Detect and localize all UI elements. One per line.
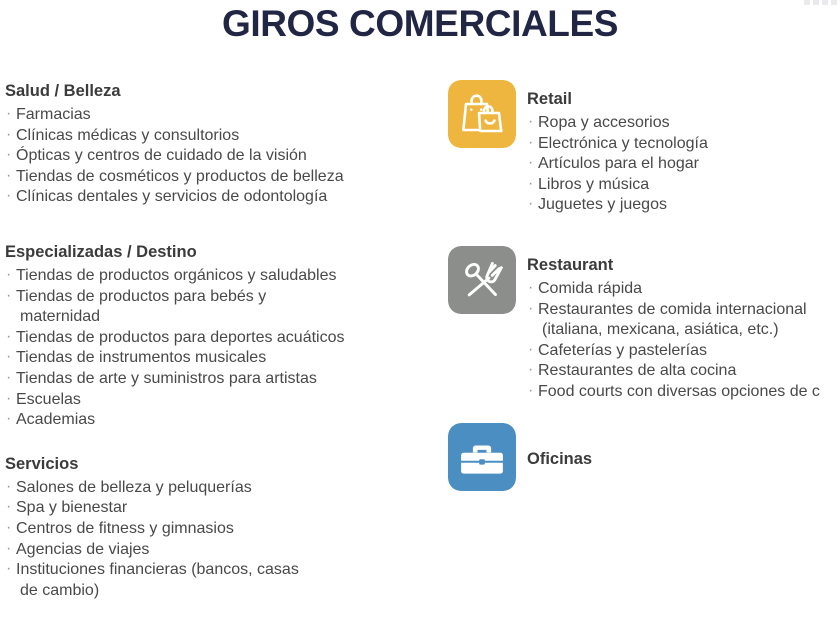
list-item: Electrónica y tecnología	[527, 134, 840, 155]
shopping-bags-icon	[448, 80, 516, 148]
section-heading-restaurant: Restaurant	[527, 254, 840, 277]
list-item: Comida rápida	[527, 279, 840, 300]
list-item: Libros y música	[527, 175, 840, 196]
section-heading-retail: Retail	[527, 88, 840, 111]
list-item-continuation: (italiana, mexicana, asiática, etc.)	[538, 320, 840, 341]
section-retail: Retail Ropa y accesorios Electrónica y t…	[448, 80, 840, 216]
section-heading-oficinas: Oficinas	[527, 448, 840, 471]
list-item-continuation: maternidad	[16, 307, 435, 328]
section-heading-salud-belleza: Salud / Belleza	[5, 80, 435, 103]
list-item: Restaurantes de alta cocina	[527, 361, 840, 382]
list-item: Tiendas de productos para bebés y matern…	[5, 287, 435, 328]
list-item: Clínicas dentales y servicios de odontol…	[5, 187, 435, 208]
row-body-restaurant: Restaurant Comida rápida Restaurantes de…	[527, 246, 840, 403]
list-item: Tiendas de productos orgánicos y saludab…	[5, 266, 435, 287]
list-item: Ópticas y centros de cuidado de la visió…	[5, 146, 435, 167]
list-item: Ropa y accesorios	[527, 113, 840, 134]
list-item: Food courts con diversas opciones de c	[527, 382, 840, 403]
list-item: Tiendas de arte y suministros para artis…	[5, 369, 435, 390]
page-title: GIROS COMERCIALES	[0, 2, 840, 46]
left-column: Salud / Belleza Farmacias Clínicas médic…	[5, 80, 435, 601]
list-item: Artículos para el hogar	[527, 154, 840, 175]
section-restaurant: Restaurant Comida rápida Restaurantes de…	[448, 246, 840, 403]
list-item: Academias	[5, 410, 435, 431]
section-servicios: Servicios Salones de belleza y peluquerí…	[5, 453, 435, 602]
list-restaurant: Comida rápida Restaurantes de comida int…	[527, 279, 840, 403]
section-spacer	[448, 216, 840, 246]
section-oficinas: Oficinas	[448, 423, 840, 491]
list-item: Cafeterías y pastelerías	[527, 341, 840, 362]
section-salud-belleza: Salud / Belleza Farmacias Clínicas médic…	[5, 80, 435, 208]
right-column: Retail Ropa y accesorios Electrónica y t…	[448, 80, 840, 491]
slide-canvas: GIROS COMERCIALES Salud / Belleza Farmac…	[0, 0, 840, 630]
list-item: Salones de belleza y peluquerías	[5, 478, 435, 499]
list-item: Spa y bienestar	[5, 498, 435, 519]
list-retail: Ropa y accesorios Electrónica y tecnolog…	[527, 113, 840, 216]
section-heading-servicios: Servicios	[5, 453, 435, 476]
list-item: Instituciones financieras (bancos, casas…	[5, 560, 435, 601]
section-spacer	[5, 431, 435, 453]
list-item-text: Restaurantes de comida internacional	[538, 301, 807, 318]
section-spacer	[5, 208, 435, 241]
list-salud-belleza: Farmacias Clínicas médicas y consultorio…	[5, 105, 435, 208]
list-item: Tiendas de instrumentos musicales	[5, 348, 435, 369]
list-servicios: Salones de belleza y peluquerías Spa y b…	[5, 478, 435, 602]
list-item: Clínicas médicas y consultorios	[5, 126, 435, 147]
list-item: Tiendas de cosméticos y productos de bel…	[5, 167, 435, 188]
list-item-text: Instituciones financieras (bancos, casas	[16, 561, 299, 578]
section-heading-especializadas-destino: Especializadas / Destino	[5, 241, 435, 264]
list-item: Centros de fitness y gimnasios	[5, 519, 435, 540]
section-spacer	[448, 403, 840, 423]
section-especializadas-destino: Especializadas / Destino Tiendas de prod…	[5, 241, 435, 431]
list-especializadas-destino: Tiendas de productos orgánicos y saludab…	[5, 266, 435, 431]
list-item: Escuelas	[5, 390, 435, 411]
list-item: Farmacias	[5, 105, 435, 126]
fork-spoon-icon	[448, 246, 516, 314]
list-item: Agencias de viajes	[5, 540, 435, 561]
list-item: Tiendas de productos para deportes acuát…	[5, 328, 435, 349]
list-item: Juguetes y juegos	[527, 195, 840, 216]
row-body-oficinas: Oficinas	[527, 423, 840, 471]
row-body-retail: Retail Ropa y accesorios Electrónica y t…	[527, 80, 840, 216]
list-item: Restaurantes de comida internacional (it…	[527, 300, 840, 341]
list-item-text: Tiendas de productos para bebés y	[16, 288, 266, 305]
icon-slot-oficinas	[448, 423, 518, 491]
list-item-continuation: de cambio)	[16, 581, 435, 602]
briefcase-icon	[448, 423, 516, 491]
icon-slot-retail	[448, 80, 518, 148]
icon-slot-restaurant	[448, 246, 518, 314]
